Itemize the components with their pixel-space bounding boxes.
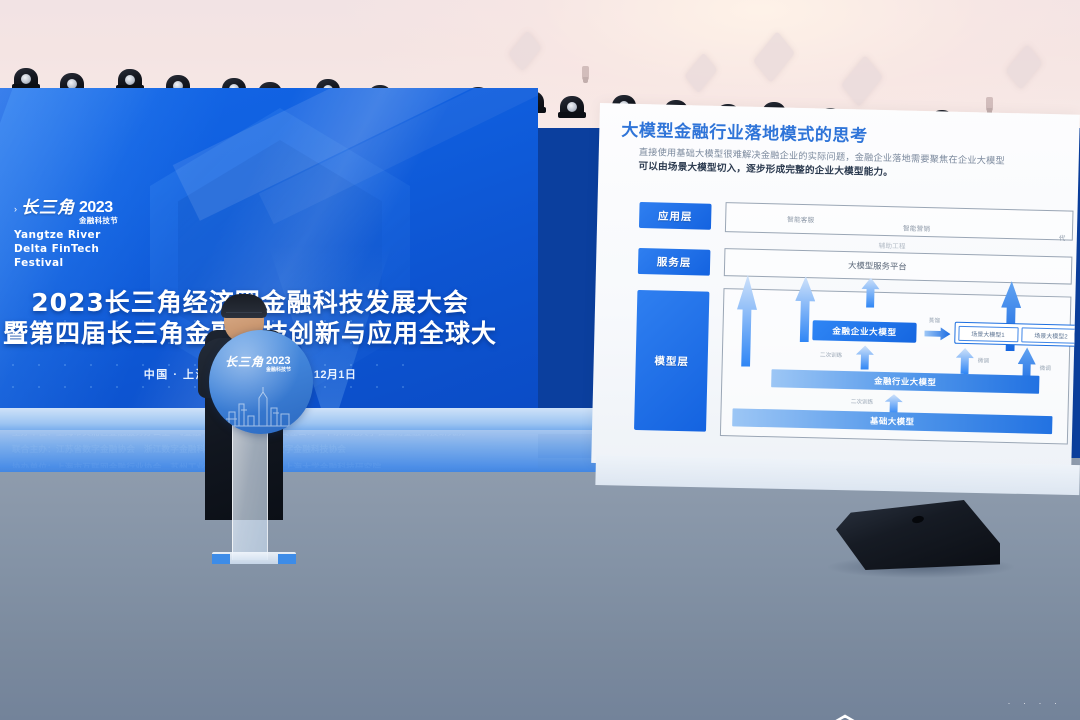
slide-service-item: 大模型服务平台 xyxy=(848,259,907,272)
logo-cn-mark: 长三角 xyxy=(21,200,75,217)
logo-year: 2023 xyxy=(79,200,113,215)
slide-layer-tag-service: 服务层 xyxy=(638,248,711,276)
slide-app-item: 智能营销 xyxy=(903,222,930,233)
slide-arrow-label-finetune-1: 二次训练 xyxy=(820,350,843,359)
podium-logo-cn: 长三角 xyxy=(225,356,264,368)
speaker-glasses-icon xyxy=(226,312,262,319)
logo-en-line-3: Festival xyxy=(14,257,144,271)
stage-spotlight-icon xyxy=(14,68,38,87)
conference-stage-photo: › 长三角 2023 金融科技节 Yangtze River Delta Fin… xyxy=(0,0,1080,720)
stage-floor xyxy=(0,458,1080,720)
podium-column xyxy=(232,418,268,560)
slide-arrow-label-tune-far: 微调 xyxy=(1040,364,1051,372)
slide-scene-model-group: 场景大模型1 场景大模型2 xyxy=(954,322,1080,347)
stage-spotlight-icon xyxy=(560,96,584,115)
slide-arrow-label-finetune-2: 二次训练 xyxy=(851,397,874,406)
slide-layer-tag-model: 模型层 xyxy=(634,290,709,432)
slide-scene-cell: 场景大模型2 xyxy=(1021,327,1080,343)
slide-app-item: 代 xyxy=(1059,232,1066,242)
watermark-dots: · · · · xyxy=(1008,698,1063,708)
slide-arrow-label-distill: 蒸馏 xyxy=(929,316,940,324)
slide-title: 大模型金融行业落地模式的思考 xyxy=(621,116,868,147)
slide-app-sub-item: 辅助工程 xyxy=(878,240,905,251)
led-screen-base-panel xyxy=(0,430,600,472)
logo-en-line-2: Delta FinTech xyxy=(14,243,144,257)
podium-base xyxy=(212,552,296,564)
logo-cn-sub: 金融科技节 xyxy=(79,215,118,226)
podium-logo-sub: 金融科技节 xyxy=(266,366,291,373)
podium-logo-year: 2023 xyxy=(266,356,291,366)
stage-spotlight-icon xyxy=(118,69,142,88)
presentation-screen: 大模型金融行业落地模式的思考 直接使用基础大模型很难解决金融企业的实际问题，金融… xyxy=(591,103,1080,475)
slide-application-layer-box xyxy=(725,202,1074,240)
podium-logo: 长三角 2023 金融科技节 xyxy=(225,356,291,373)
slide-scene-cell: 场景大模型1 xyxy=(958,325,1018,341)
slide-arrow-label-tune-right: 微调 xyxy=(978,356,989,364)
podium-front-panel: 长三角 2023 金融科技节 xyxy=(209,330,313,434)
festival-logo: › 长三角 2023 金融科技节 Yangtze River Delta Fin… xyxy=(14,200,144,271)
slide-app-item: 智能客服 xyxy=(787,214,814,225)
skyline-graphic-icon xyxy=(223,386,299,428)
logo-arrow-icon: › xyxy=(14,200,17,218)
festival-emblem-icon xyxy=(822,714,868,720)
slide-layer-tag-application: 应用层 xyxy=(639,202,712,230)
slide-enterprise-model-box: 金融企业大模型 xyxy=(812,320,916,343)
logo-en-line-1: Yangtze River xyxy=(14,229,144,243)
